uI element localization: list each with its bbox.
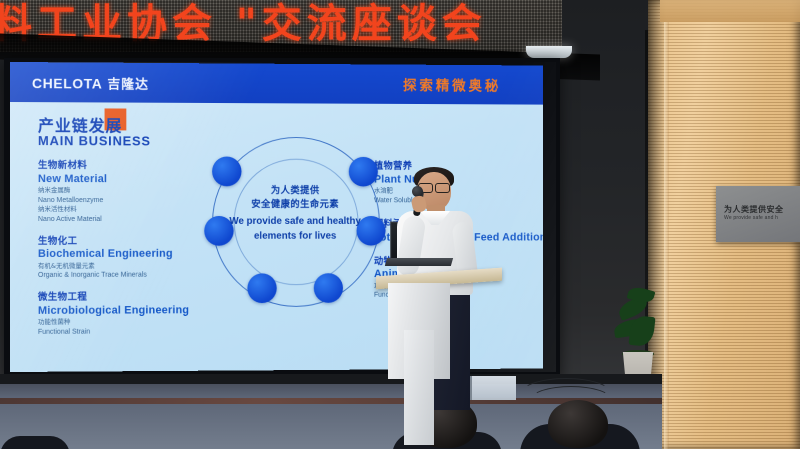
- wood-top-beam: [660, 0, 800, 22]
- audience-head: [548, 400, 608, 448]
- center-cn-line1: 为人类提供: [228, 184, 363, 198]
- center-cn-line2: 安全健康的生命元素: [228, 198, 363, 212]
- ring-node: [314, 273, 343, 303]
- block-title-en: Biochemical Engineering: [38, 247, 226, 262]
- wall-sign-cn: 为人类提供安全: [724, 204, 784, 215]
- block-sub-en: Functional Strain: [38, 327, 226, 338]
- block-title-cn: 微生物工程: [38, 291, 226, 303]
- slide-tagline: 探索精微奥秘: [403, 75, 501, 95]
- block-sub-cn: 有机&无机微量元素: [38, 261, 226, 271]
- ring-center-text: 为人类提供 安全健康的生命元素 We provide safe and heal…: [228, 184, 363, 243]
- business-block: 生物新材料 New Material 纳米金属酶 Nano Metalloenz…: [38, 160, 226, 225]
- ring-diagram: 为人类提供 安全健康的生命元素 We provide safe and heal…: [204, 129, 385, 313]
- slide-title-cn: 产业链发展: [38, 112, 122, 136]
- business-block: 生物化工 Biochemical Engineering 有机&无机微量元素 O…: [38, 235, 226, 280]
- business-block: 植物营养 Plant Nutrition 水溶肥 Water Soluble F…: [374, 161, 543, 206]
- ring-node: [349, 157, 378, 187]
- center-en-line2: elements for lives: [228, 230, 363, 243]
- brand-logo-cn: 吉隆达: [107, 74, 149, 93]
- block-sub-cn: 纳米活性材料: [38, 205, 226, 214]
- laptop-base: [385, 258, 453, 266]
- block-sub-en: Organic & Inorganic Trace Minerals: [38, 271, 226, 281]
- podium-column: [404, 330, 434, 445]
- ceiling-lamp: [526, 46, 572, 58]
- audience-shoulders: [0, 436, 70, 449]
- block-sub-cn: 水溶肥: [374, 187, 543, 196]
- block-title-cn: 植物营养: [374, 161, 543, 173]
- block-sub-en: Water Soluble Fertilizer: [374, 196, 543, 206]
- wall-sign-en: We provide safe and h: [724, 215, 778, 221]
- block-title-cn: 生物化工: [38, 235, 226, 247]
- block-sub-cn: 纳米金属酶: [38, 186, 226, 196]
- white-panel-divider: [470, 376, 472, 400]
- ring-node: [212, 157, 241, 187]
- wood-wall-edge: [664, 22, 669, 449]
- block-sub-en: Nano Active Material: [38, 215, 226, 225]
- slide-header: CHELOTA 吉隆达 探索精微奥秘: [10, 62, 543, 105]
- business-block: 微生物工程 Microbiological Engineering 功能性菌种 …: [38, 291, 226, 337]
- center-en-line1: We provide safe and healthy: [228, 215, 363, 228]
- block-title-en: Plant Nutrition: [374, 173, 543, 187]
- block-sub-en: Nano Metalloenzyme: [38, 196, 226, 206]
- brand-logo: CHELOTA 吉隆达: [32, 73, 149, 93]
- block-title-en: Microbiological Engineering: [38, 303, 226, 318]
- ring-node: [247, 273, 276, 303]
- photo-scene: 料工业协会 "交流座谈会 为人类提供安全 We provide safe and…: [0, 0, 800, 449]
- block-title-cn: 生物新材料: [38, 160, 226, 172]
- brand-logo-en: CHELOTA: [32, 75, 102, 91]
- left-column: 生物新材料 New Material 纳米金属酶 Nano Metalloenz…: [38, 160, 226, 348]
- block-title-en: New Material: [38, 172, 226, 187]
- wall-sign: 为人类提供安全 We provide safe and h: [716, 186, 800, 242]
